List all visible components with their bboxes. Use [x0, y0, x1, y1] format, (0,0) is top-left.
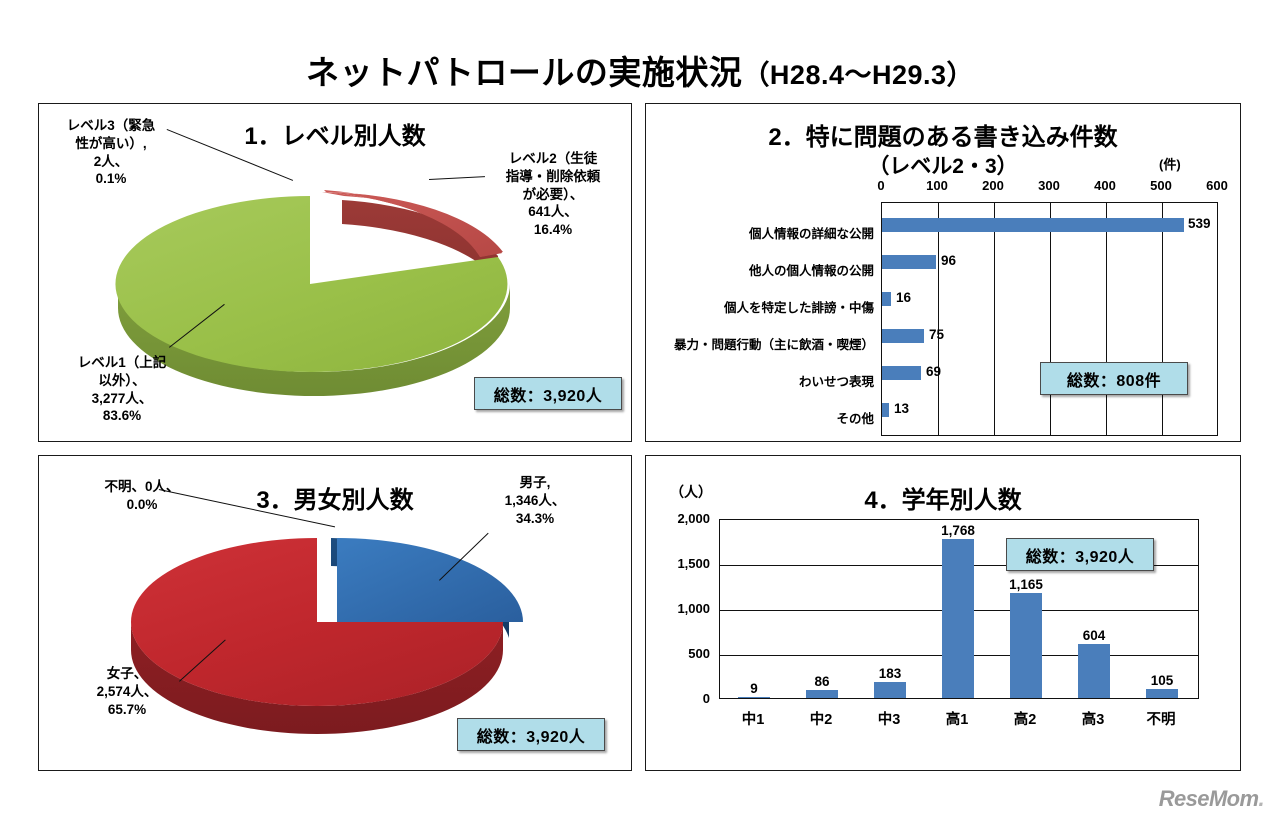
p4-ytick-2000: 2,000: [646, 511, 710, 526]
p2-plot-area: 539 96 16 75 69 13 総数：808件: [881, 202, 1218, 436]
p4-category-1: 中2: [791, 708, 851, 729]
p2-bar-5: [882, 403, 889, 417]
p4-plot-area: 9 86 183 1,768 1,165 604 105 総数：3,920人: [719, 519, 1199, 699]
p2-gridline-500: [1162, 203, 1163, 435]
p4-category-5: 高3: [1063, 708, 1123, 729]
p2-xtick-400: 400: [1083, 178, 1127, 193]
p4-category-6: 不明: [1131, 708, 1191, 729]
p2-value-4: 69: [926, 364, 941, 379]
watermark-logo: ReseMom.: [1159, 786, 1264, 812]
pie-label-level1: レベル1（上記 以外）、 3,277人、 83.6%: [61, 354, 183, 425]
p4-value-3: 1,768: [928, 523, 988, 538]
panel2-total-badge: 総数：808件: [1040, 362, 1188, 395]
p2-gridline-400: [1106, 203, 1107, 435]
p4-bar-5: [1078, 644, 1110, 698]
p2-gridline-200: [994, 203, 995, 435]
p2-value-3: 75: [929, 327, 944, 342]
p4-value-6: 105: [1132, 673, 1192, 688]
p2-gridline-100: [938, 203, 939, 435]
panel-level-breakdown: 1．レベル別人数: [38, 103, 632, 442]
p2-category-4: わいせつ表現: [646, 371, 874, 390]
p4-category-0: 中1: [723, 708, 783, 729]
panel-gender-breakdown: 3．男女別人数: [38, 455, 632, 771]
pie-label-level2: レベル2（生徒 指導・削除依頼 が必要）、 641人、 16.4%: [489, 150, 617, 239]
p2-category-1: 他人の個人情報の公開: [646, 260, 874, 279]
panel4-unit-label: （人）: [670, 482, 712, 502]
watermark-dot: .: [1258, 786, 1264, 811]
p4-value-4: 1,165: [996, 577, 1056, 592]
p4-bar-1: [806, 690, 838, 698]
p2-value-5: 13: [894, 401, 909, 416]
p4-ytick-1000: 1,000: [646, 601, 710, 616]
p4-bar-2: [874, 682, 906, 698]
pie-label-level3: レベル3（緊急 性が高い）, 2人、 0.1%: [53, 117, 169, 188]
p4-bar-6: [1146, 689, 1178, 698]
watermark-text: ReseMom: [1159, 786, 1259, 811]
p4-bar-0: [738, 697, 770, 698]
p4-ytick-500: 500: [646, 646, 710, 661]
p2-xtick-0: 0: [859, 178, 903, 193]
p2-category-3: 暴力・問題行動（主に飲酒・喫煙）: [646, 334, 874, 353]
p2-value-1: 96: [941, 253, 956, 268]
p4-value-0: 9: [724, 681, 784, 696]
p2-xtick-100: 100: [915, 178, 959, 193]
p2-gridline-300: [1050, 203, 1051, 435]
slide-canvas: ネットパトロールの実施状況（H28.4～H29.3） 1．レベル別人数: [0, 0, 1280, 818]
p4-value-2: 183: [860, 666, 920, 681]
page-title-text: ネットパトロールの実施状況: [306, 54, 743, 91]
panel2-unit-label: (件): [1159, 154, 1181, 173]
p2-bar-4: [882, 366, 921, 380]
panel-problem-posts: 2．特に問題のある書き込み件数 （レベル2・3） (件) 0 100 200 3…: [645, 103, 1241, 442]
p4-value-5: 604: [1064, 628, 1124, 643]
p4-bar-3: [942, 539, 974, 698]
p2-xtick-200: 200: [971, 178, 1015, 193]
p2-category-5: その他: [646, 408, 874, 427]
panel1-total-badge: 総数：3,920人: [474, 377, 622, 410]
panel-grade-breakdown: 4．学年別人数 （人） 2,000 1,500 1,000 500 0 9 86…: [645, 455, 1241, 771]
p2-value-2: 16: [896, 290, 911, 305]
p2-xtick-600: 600: [1195, 178, 1239, 193]
panel4-total-badge: 総数：3,920人: [1006, 538, 1154, 571]
p4-bar-4: [1010, 593, 1042, 698]
page-title: ネットパトロールの実施状況（H28.4～H29.3）: [0, 46, 1280, 94]
panel3-total-badge: 総数：3,920人: [457, 718, 605, 751]
p4-category-4: 高2: [995, 708, 1055, 729]
p2-bar-3: [882, 329, 924, 343]
p4-value-1: 86: [792, 674, 852, 689]
p2-bar-2: [882, 292, 891, 306]
panel2-title: 2．特に問題のある書き込み件数: [646, 117, 1240, 152]
p2-category-0: 個人情報の詳細な公開: [646, 223, 874, 242]
pie-label-unknown: 不明、0人、 0.0%: [83, 478, 201, 514]
p2-bar-0: [882, 218, 1184, 232]
p2-xtick-500: 500: [1139, 178, 1183, 193]
p4-category-3: 高1: [927, 708, 987, 729]
p4-ytick-1500: 1,500: [646, 556, 710, 571]
p4-ytick-0: 0: [646, 691, 710, 706]
pie-label-female: 女子、 2,574人、 65.7%: [69, 665, 185, 718]
panel2-subtitle: （レベル2・3）: [646, 150, 1240, 180]
p2-value-0: 539: [1188, 216, 1211, 231]
p4-category-2: 中3: [859, 708, 919, 729]
page-title-period: （H28.4～H29.3）: [742, 60, 974, 90]
p2-bar-1: [882, 255, 936, 269]
pie-label-male: 男子, 1,346人、 34.3%: [479, 474, 591, 527]
panel4-title: 4．学年別人数: [646, 480, 1240, 515]
p2-xtick-300: 300: [1027, 178, 1071, 193]
p2-category-2: 個人を特定した誹謗・中傷: [646, 297, 874, 316]
